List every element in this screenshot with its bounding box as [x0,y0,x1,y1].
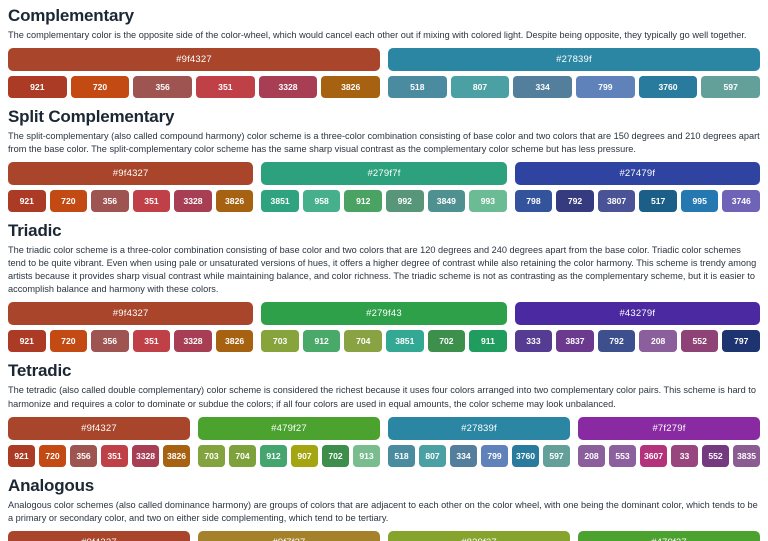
shade-row: 5188073347993760597 [388,445,570,467]
color-group: #9f7f2783373338283045370471 [198,531,380,541]
shade-swatch[interactable]: 720 [50,330,88,352]
color-group: #27839f5188073347993760597 [388,48,760,98]
section-title: Tetradic [8,361,760,381]
shade-row: 7039127043851702911 [261,330,506,352]
shade-swatch[interactable]: 351 [133,190,171,212]
shade-swatch[interactable]: 958 [303,190,341,212]
shade-swatch[interactable]: 807 [419,445,446,467]
color-swatch-main[interactable]: #27479f [515,162,760,185]
shade-row: 92172035635133283826 [8,76,380,98]
color-group: #43279f3333837792208552797 [515,302,760,352]
shade-swatch[interactable]: 3328 [174,190,212,212]
color-group: #27839f5188073347993760597 [388,417,570,467]
color-swatch-main[interactable]: #7f279f [578,417,760,440]
shade-swatch[interactable]: 33 [671,445,698,467]
color-group-row: #9f432792172035635133283826#9f7f27833733… [8,531,760,541]
shade-swatch[interactable]: 3328 [132,445,159,467]
shade-swatch[interactable]: 913 [353,445,380,467]
shade-swatch[interactable]: 720 [50,190,88,212]
color-group: #9f432792172035635133283826 [8,531,190,541]
scheme-section: TetradicThe tetradic (also called double… [8,361,760,466]
shade-swatch[interactable]: 704 [344,330,382,352]
section-description: Analogous color schemes (also called dom… [8,499,760,525]
section-description: The split-complementary (also called com… [8,130,760,156]
shade-swatch[interactable]: 3835 [733,445,760,467]
shade-row: 3333837792208552797 [515,330,760,352]
shade-swatch[interactable]: 720 [71,76,130,98]
shade-swatch[interactable]: 552 [702,445,729,467]
shade-swatch[interactable]: 703 [261,330,299,352]
shade-swatch[interactable]: 208 [639,330,677,352]
color-swatch-main[interactable]: #27839f [388,417,570,440]
sections-container: ComplementaryThe complementary color is … [8,6,760,541]
shade-swatch[interactable]: 702 [428,330,466,352]
section-description: The triadic color scheme is a three-colo… [8,244,760,296]
color-group-row: #9f432792172035635133283826#279f43703912… [8,302,760,352]
shade-swatch[interactable]: 3328 [259,76,318,98]
color-swatch-main[interactable]: #9f7f27 [198,531,380,541]
scheme-section: TriadicThe triadic color scheme is a thr… [8,221,760,352]
color-group: #839f27907704166703734913 [388,531,570,541]
color-swatch-main[interactable]: #9f4327 [8,162,253,185]
color-group: #279f437039127043851702911 [261,302,506,352]
shade-swatch[interactable]: 921 [8,190,46,212]
color-swatch-main[interactable]: #9f4327 [8,417,190,440]
shade-swatch[interactable]: 208 [578,445,605,467]
shade-row: 79879238075179953746 [515,190,760,212]
shade-swatch[interactable]: 3760 [512,445,539,467]
shade-swatch[interactable]: 334 [450,445,477,467]
shade-swatch[interactable]: 799 [481,445,508,467]
color-group: #279f7f38519589129923849993 [261,162,506,212]
color-scheme-page: ComplementaryThe complementary color is … [0,0,768,541]
shade-row: 38519589129923849993 [261,190,506,212]
shade-swatch[interactable]: 351 [133,330,171,352]
shade-swatch[interactable]: 3837 [556,330,594,352]
color-group: #9f432792172035635133283826 [8,302,253,352]
shade-swatch[interactable]: 3807 [598,190,636,212]
shade-swatch[interactable]: 351 [196,76,255,98]
shade-swatch[interactable]: 3849 [428,190,466,212]
color-swatch-main[interactable]: #43279f [515,302,760,325]
color-group-row: #9f432792172035635133283826#27839f518807… [8,48,760,98]
color-swatch-main[interactable]: #9f4327 [8,48,380,71]
shade-swatch[interactable]: 3746 [722,190,760,212]
shade-swatch[interactable]: 3607 [640,445,667,467]
shade-swatch[interactable]: 356 [133,76,192,98]
section-title: Complementary [8,6,760,26]
shade-swatch[interactable]: 921 [8,445,35,467]
color-swatch-main[interactable]: #479f27 [198,417,380,440]
shade-swatch[interactable]: 517 [639,190,677,212]
shade-row: 92172035635133283826 [8,190,253,212]
shade-swatch[interactable]: 3826 [321,76,380,98]
scheme-section: AnalogousAnalogous color schemes (also c… [8,476,760,541]
section-title: Triadic [8,221,760,241]
shade-row: 2085533607335523835 [578,445,760,467]
shade-swatch[interactable]: 912 [260,445,287,467]
color-group: #9f432792172035635133283826 [8,417,190,467]
shade-swatch[interactable]: 356 [91,190,129,212]
shade-swatch[interactable]: 518 [388,76,447,98]
color-group: #479f27703704912907702913 [198,417,380,467]
color-group-row: #9f432792172035635133283826#479f27703704… [8,417,760,467]
shade-swatch[interactable]: 799 [576,76,635,98]
shade-swatch[interactable]: 597 [543,445,570,467]
color-group: #9f432792172035635133283826 [8,48,380,98]
shade-swatch[interactable]: 334 [513,76,572,98]
scheme-section: ComplementaryThe complementary color is … [8,6,760,98]
shade-swatch[interactable]: 356 [91,330,129,352]
shade-swatch[interactable]: 798 [515,190,553,212]
shade-row: 92172035635133283826 [8,330,253,352]
color-swatch-main[interactable]: #279f43 [261,302,506,325]
color-swatch-main[interactable]: #9f4327 [8,302,253,325]
shade-swatch[interactable]: 3328 [174,330,212,352]
shade-swatch[interactable]: 807 [451,76,510,98]
scheme-section: Split ComplementaryThe split-complementa… [8,107,760,212]
color-swatch-main[interactable]: #9f4327 [8,531,190,541]
color-group: #9f432792172035635133283826 [8,162,253,212]
shade-swatch[interactable]: 720 [39,445,66,467]
shade-row: 703704912907702913 [198,445,380,467]
color-swatch-main[interactable]: #479f27 [578,531,760,541]
shade-swatch[interactable]: 3826 [216,190,254,212]
shade-swatch[interactable]: 703 [198,445,225,467]
shade-swatch[interactable]: 921 [8,330,46,352]
shade-swatch[interactable]: 797 [722,330,760,352]
shade-swatch[interactable]: 704 [229,445,256,467]
shade-row: 5188073347993760597 [388,76,760,98]
shade-swatch[interactable]: 3826 [216,330,254,352]
color-swatch-main[interactable]: #27839f [388,48,760,71]
color-swatch-main[interactable]: #279f7f [261,162,506,185]
shade-swatch[interactable]: 3851 [386,330,424,352]
shade-swatch[interactable]: 993 [469,190,507,212]
shade-swatch[interactable]: 597 [701,76,760,98]
shade-swatch[interactable]: 921 [8,76,67,98]
shade-swatch[interactable]: 356 [70,445,97,467]
shade-swatch[interactable]: 995 [681,190,719,212]
section-title: Analogous [8,476,760,496]
color-group: #27479f79879238075179953746 [515,162,760,212]
shade-swatch[interactable]: 907 [291,445,318,467]
shade-swatch[interactable]: 792 [556,190,594,212]
shade-swatch[interactable]: 333 [515,330,553,352]
shade-swatch[interactable]: 3760 [639,76,698,98]
color-group: #479f27703704912907702913 [578,531,760,541]
color-group: #7f279f2085533607335523835 [578,417,760,467]
section-description: The complementary color is the opposite … [8,29,760,42]
shade-swatch[interactable]: 702 [322,445,349,467]
shade-swatch[interactable]: 351 [101,445,128,467]
shade-swatch[interactable]: 992 [386,190,424,212]
shade-swatch[interactable]: 912 [344,190,382,212]
shade-swatch[interactable]: 912 [303,330,341,352]
shade-swatch[interactable]: 792 [598,330,636,352]
section-title: Split Complementary [8,107,760,127]
color-group-row: #9f432792172035635133283826#279f7f385195… [8,162,760,212]
shade-swatch[interactable]: 552 [681,330,719,352]
section-description: The tetradic (also called double complem… [8,384,760,410]
color-swatch-main[interactable]: #839f27 [388,531,570,541]
shade-row: 92172035635133283826 [8,445,190,467]
shade-swatch[interactable]: 911 [469,330,507,352]
shade-swatch[interactable]: 3851 [261,190,299,212]
shade-swatch[interactable]: 553 [609,445,636,467]
shade-swatch[interactable]: 518 [388,445,415,467]
shade-swatch[interactable]: 3826 [163,445,190,467]
